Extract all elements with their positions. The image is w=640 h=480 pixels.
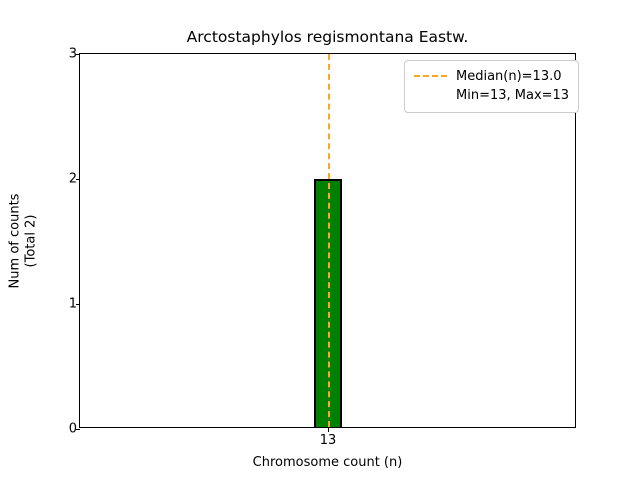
y-axis-label-text: Num of counts (Total 2): [7, 193, 39, 288]
chart-title: Arctostaphylos regismontana Eastw.: [79, 27, 576, 47]
legend-minmax-label: Min=13, Max=13: [456, 86, 569, 105]
y-axis-label-line-1: Num of counts: [7, 193, 23, 288]
legend-entry-median: Median(n)=13.0 Min=13, Max=13: [456, 67, 569, 105]
y-tick-label: 0: [69, 423, 77, 436]
legend-median-label: Median(n)=13.0: [456, 67, 569, 86]
median-line: [328, 54, 330, 427]
y-axis-label: Num of counts (Total 2): [0, 53, 46, 428]
x-axis-label: Chromosome count (n): [79, 455, 576, 470]
legend-median-line-icon: [414, 75, 447, 77]
y-axis-label-line-2: (Total 2): [23, 193, 39, 288]
legend: Median(n)=13.0 Min=13, Max=13: [404, 60, 579, 113]
x-tick-label: 13: [320, 434, 337, 448]
x-tick-mark: [328, 427, 329, 432]
y-tick-label: 3: [69, 48, 77, 61]
y-tick-label: 2: [69, 173, 77, 186]
y-tick-label: 1: [69, 298, 77, 311]
chart-figure: Arctostaphylos regismontana Eastw. Num o…: [0, 0, 640, 480]
